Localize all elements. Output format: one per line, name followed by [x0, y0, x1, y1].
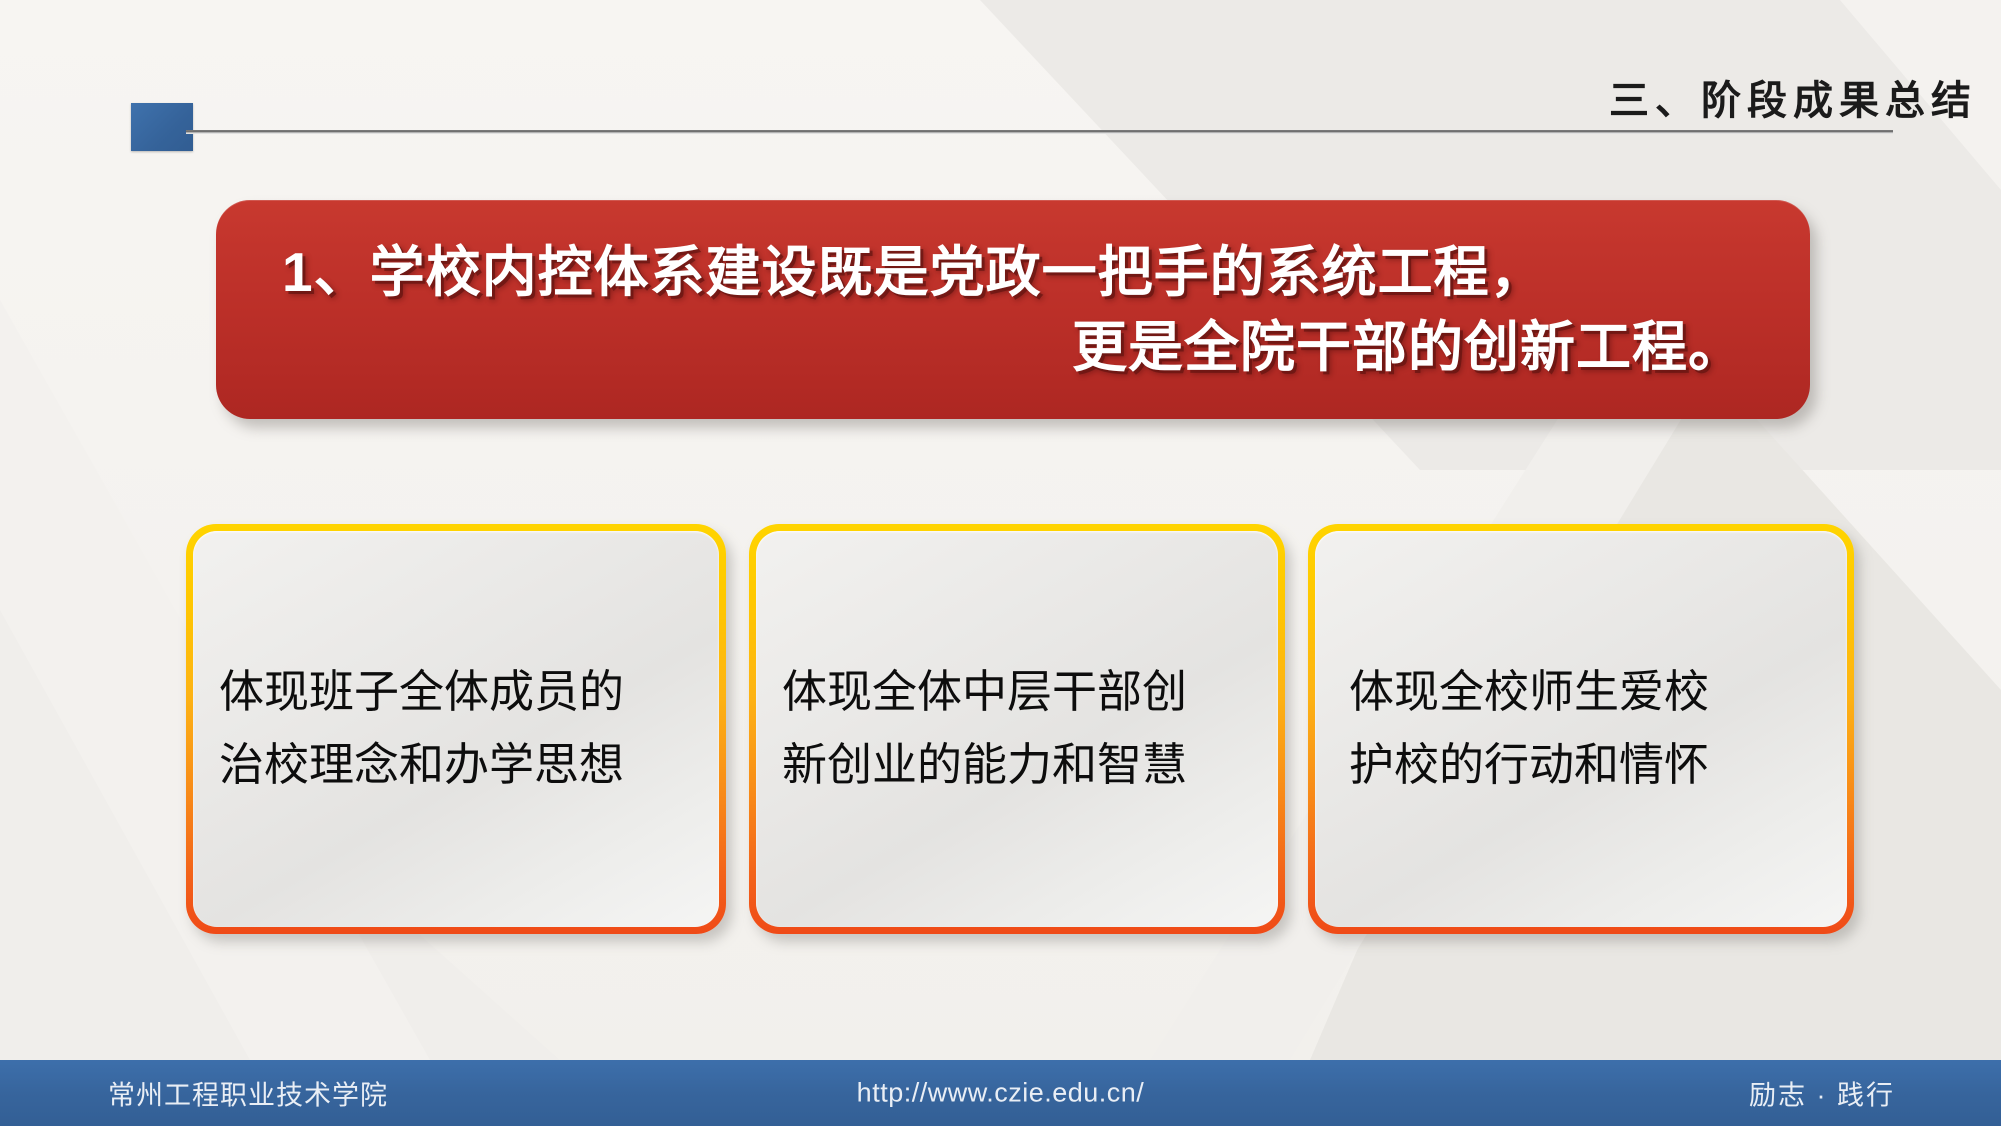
- content-card: 体现全体中层干部创 新创业的能力和智慧: [749, 524, 1285, 934]
- content-card-face: 体现班子全体成员的 治校理念和办学思想: [193, 531, 719, 927]
- slide-header: 三、阶段成果总结: [0, 0, 2001, 150]
- headline-line-2: 更是全院干部的创新工程。: [272, 310, 1762, 385]
- content-card-line-1: 体现班子全体成员的: [219, 656, 693, 729]
- content-card-line-2: 新创业的能力和智慧: [782, 729, 1252, 802]
- section-title: 三、阶段成果总结: [1609, 68, 1977, 126]
- content-card-face: 体现全校师生爱校 护校的行动和情怀: [1315, 531, 1847, 927]
- content-card-line-2: 治校理念和办学思想: [219, 729, 693, 802]
- slide-footer: 常州工程职业技术学院 http://www.czie.edu.cn/ 励志 · …: [0, 1060, 2001, 1126]
- headline-banner-content: 1、学校内控体系建设既是党政一把手的系统工程， 更是全院干部的创新工程。: [216, 200, 1810, 419]
- presentation-slide: 三、阶段成果总结 1、学校内控体系建设既是党政一把手的系统工程， 更是全院干部的…: [0, 0, 2001, 1126]
- footer-website-url[interactable]: http://www.czie.edu.cn/: [857, 1078, 1145, 1109]
- headline-line-1: 1、学校内控体系建设既是党政一把手的系统工程，: [272, 235, 1762, 310]
- blue-square-marker-icon: [131, 103, 193, 151]
- content-card-line-2: 护校的行动和情怀: [1341, 729, 1821, 802]
- content-card-face: 体现全体中层干部创 新创业的能力和智慧: [756, 531, 1278, 927]
- headline-banner: 1、学校内控体系建设既是党政一把手的系统工程， 更是全院干部的创新工程。: [216, 200, 1810, 419]
- content-card: 体现班子全体成员的 治校理念和办学思想: [186, 524, 726, 934]
- header-divider-rule: [186, 130, 1893, 134]
- headline-banner-surface: 1、学校内控体系建设既是党政一把手的系统工程， 更是全院干部的创新工程。: [216, 200, 1810, 419]
- content-card: 体现全校师生爱校 护校的行动和情怀: [1308, 524, 1854, 934]
- footer-institution-name: 常州工程职业技术学院: [108, 1074, 388, 1113]
- footer-motto: 励志 · 践行: [1749, 1074, 1895, 1113]
- card-row: 体现班子全体成员的 治校理念和办学思想 体现全体中层干部创 新创业的能力和智慧 …: [0, 524, 2001, 944]
- content-card-line-1: 体现全体中层干部创: [782, 656, 1252, 729]
- content-card-line-1: 体现全校师生爱校: [1341, 656, 1821, 729]
